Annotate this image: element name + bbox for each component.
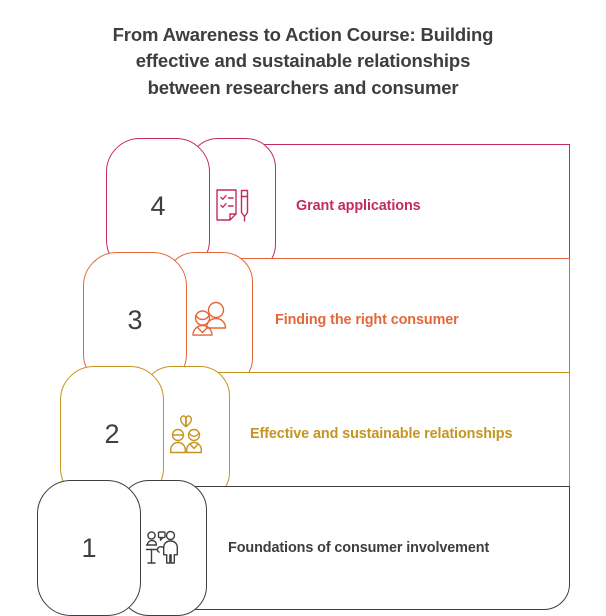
step-row-3[interactable]: 3 Finding the right consumer xyxy=(83,258,570,382)
clipboard-pen-icon xyxy=(209,183,255,229)
step-label-4: Grant applications xyxy=(296,144,421,268)
step-number-4: 4 xyxy=(150,193,165,220)
title-line-1: From Awareness to Action Course: Buildin… xyxy=(40,22,566,48)
step-number-1: 1 xyxy=(81,535,96,562)
step-number-3: 3 xyxy=(127,307,142,334)
presenter-audience-icon xyxy=(140,525,186,571)
step-number-2: 2 xyxy=(104,421,119,448)
step-number-box-1: 1 xyxy=(37,480,141,616)
step-label-2: Effective and sustainable relationships xyxy=(250,372,512,496)
two-people-icon xyxy=(186,297,232,343)
step-row-1[interactable]: 1 Foundations of consumer involvement xyxy=(37,486,570,610)
page-title: From Awareness to Action Course: Buildin… xyxy=(0,22,606,101)
title-line-2: effective and sustainable relationships xyxy=(40,48,566,74)
step-label-1: Foundations of consumer involvement xyxy=(228,486,489,610)
step-row-4[interactable]: 4 Grant applications xyxy=(106,144,570,268)
couple-heart-icon xyxy=(163,411,209,457)
title-line-3: between researchers and consumer xyxy=(40,75,566,101)
step-row-2[interactable]: 2 Effective and sustainable relationship… xyxy=(60,372,570,496)
step-label-3: Finding the right consumer xyxy=(275,258,459,382)
staircase-diagram: 4 Grant applications 3 Finding the right… xyxy=(0,130,606,580)
